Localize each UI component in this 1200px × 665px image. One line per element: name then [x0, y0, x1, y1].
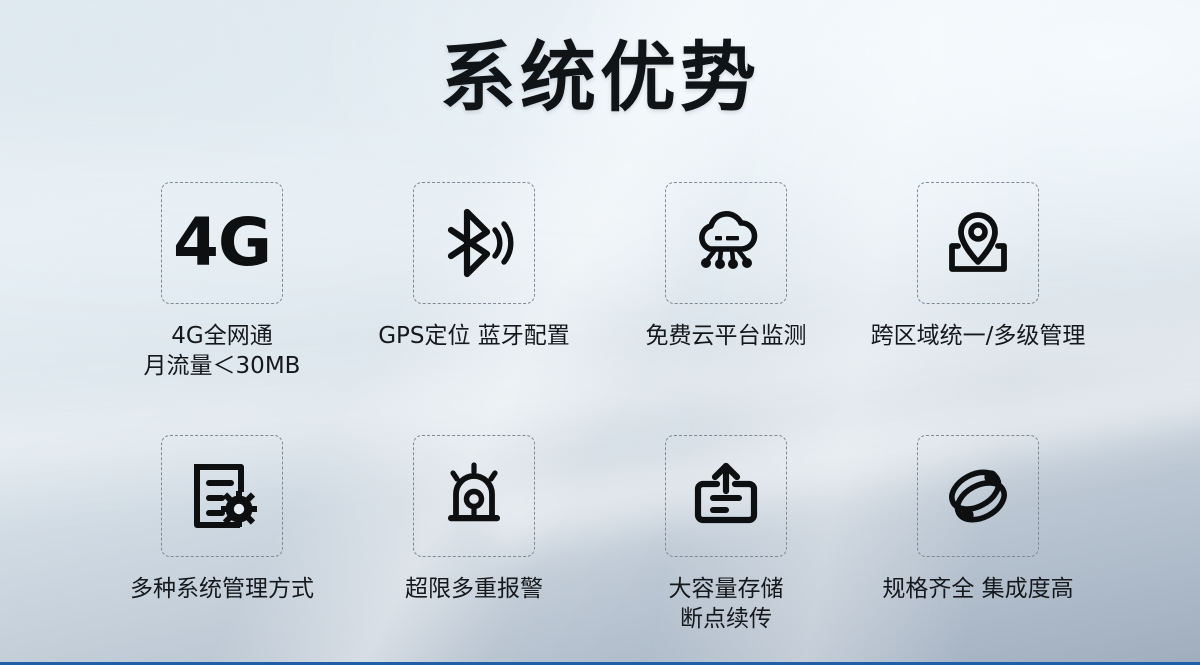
feature-item-regional-management: 跨区域统一/多级管理	[852, 182, 1104, 381]
page-title: 系统优势	[0, 38, 1200, 118]
icon-box: 4G	[161, 182, 283, 304]
icon-box	[665, 435, 787, 557]
orbit-integration-icon	[934, 452, 1022, 540]
4g-text-icon: 4G	[173, 210, 271, 276]
document-gear-icon	[179, 453, 265, 539]
feature-label: 4G全网通 月流量＜30MB	[144, 321, 301, 381]
feature-item-4g-network: 4G 4G全网通 月流量＜30MB	[96, 182, 348, 381]
icon-box	[917, 182, 1039, 304]
feature-item-multi-alarm: 超限多重报警	[348, 435, 600, 634]
map-pin-icon	[934, 199, 1022, 287]
feature-label: 多种系统管理方式	[130, 574, 314, 604]
feature-item-large-storage: 大容量存储 断点续传	[600, 435, 852, 634]
feature-label: 规格齐全 集成度高	[882, 574, 1073, 604]
feature-item-system-management: 多种系统管理方式	[96, 435, 348, 634]
icon-box	[917, 435, 1039, 557]
feature-label: 免费云平台监测	[646, 321, 807, 351]
feature-item-cloud-monitoring: 免费云平台监测	[600, 182, 852, 381]
feature-label: GPS定位 蓝牙配置	[378, 321, 570, 351]
feature-label: 超限多重报警	[405, 574, 543, 604]
feature-item-gps-bluetooth: GPS定位 蓝牙配置	[348, 182, 600, 381]
feature-item-specifications: 规格齐全 集成度高	[852, 435, 1104, 634]
upload-storage-icon	[683, 453, 769, 539]
feature-label: 大容量存储 断点续传	[669, 574, 784, 634]
icon-box	[413, 182, 535, 304]
feature-label: 跨区域统一/多级管理	[871, 321, 1086, 351]
icon-box	[161, 435, 283, 557]
icon-box	[665, 182, 787, 304]
bluetooth-signal-icon	[431, 200, 517, 286]
feature-grid: 4G 4G全网通 月流量＜30MB GPS定位 蓝牙配置	[0, 182, 1200, 634]
alarm-siren-icon	[431, 453, 517, 539]
icon-box	[413, 435, 535, 557]
cloud-nodes-icon	[682, 199, 770, 287]
